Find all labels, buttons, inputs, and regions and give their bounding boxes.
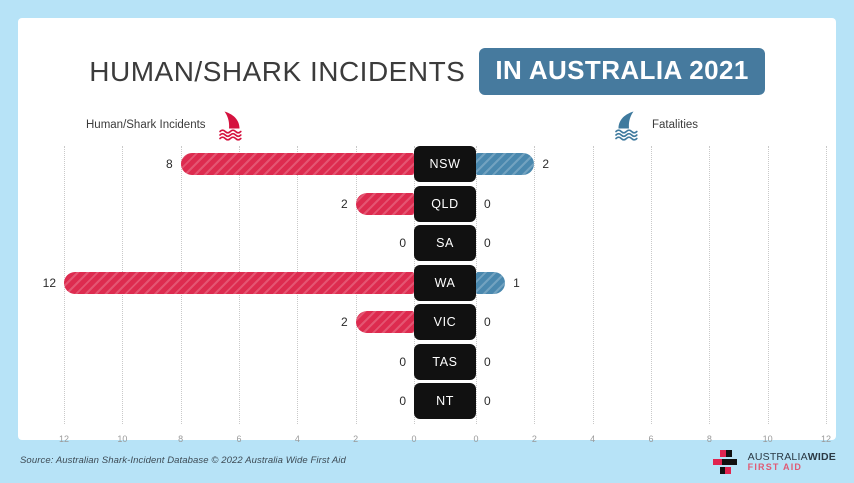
chart-row: 8NSW2 [36, 146, 854, 182]
bar-incidents [181, 153, 414, 175]
bar-value-fatalities: 0 [484, 354, 491, 370]
axis-tick-label: 10 [763, 434, 773, 444]
bar-value-incidents: 2 [341, 196, 348, 212]
state-label-wa: WA [414, 265, 476, 301]
title-main-text: HUMAN/SHARK INCIDENTS [89, 56, 465, 88]
axis-tick-label: 10 [117, 434, 127, 444]
legend-fatalities: Fatalities [610, 108, 698, 142]
bar-fatalities [476, 272, 505, 294]
axis-tick-label: 12 [59, 434, 69, 444]
logo-wordmark: AUSTRALIAWIDE FIRST AID [748, 452, 836, 472]
chart-row: 2QLD0 [36, 186, 854, 222]
page-title: HUMAN/SHARK INCIDENTS IN AUSTRALIA 2021 [18, 48, 836, 95]
state-label-qld: QLD [414, 186, 476, 222]
axis-tick-label: 8 [178, 434, 183, 444]
bar-value-fatalities: 0 [484, 196, 491, 212]
chart-row: 12WA1 [36, 265, 854, 301]
chart-row: 0SA0 [36, 225, 854, 261]
chart-x-axis: 121086420024681012 [36, 426, 854, 446]
bar-fatalities [476, 153, 534, 175]
axis-tick-label: 6 [648, 434, 653, 444]
axis-tick-label: 0 [473, 434, 478, 444]
legend-incidents-label: Human/Shark Incidents [86, 119, 206, 131]
bar-value-incidents: 12 [43, 275, 56, 291]
chart-row: 2VIC0 [36, 304, 854, 340]
axis-tick-label: 2 [532, 434, 537, 444]
infographic-poster: HUMAN/SHARK INCIDENTS IN AUSTRALIA 2021 … [0, 0, 854, 483]
axis-tick-label: 6 [236, 434, 241, 444]
chart-row: 0TAS0 [36, 344, 854, 380]
legend-fatalities-label: Fatalities [652, 119, 698, 131]
axis-tick-label: 4 [590, 434, 595, 444]
axis-tick-label: 12 [821, 434, 831, 444]
logo-name-bold: WIDE [808, 451, 836, 463]
chart-row: 0NT0 [36, 383, 854, 419]
state-label-nsw: NSW [414, 146, 476, 182]
bar-value-fatalities: 0 [484, 235, 491, 251]
axis-tick-label: 0 [411, 434, 416, 444]
bar-value-incidents: 0 [399, 235, 406, 251]
cross-icon [711, 448, 739, 476]
shark-fin-icon [214, 108, 248, 142]
bar-incidents [64, 272, 414, 294]
state-label-nt: NT [414, 383, 476, 419]
axis-tick-label: 4 [295, 434, 300, 444]
state-label-vic: VIC [414, 304, 476, 340]
source-note: Source: Australian Shark-Incident Databa… [20, 455, 346, 466]
axis-tick-label: 8 [707, 434, 712, 444]
bar-value-fatalities: 0 [484, 393, 491, 409]
chart-rows: 8NSW22QLD00SA012WA12VIC00TAS00NT0 [36, 146, 854, 424]
bar-value-incidents: 2 [341, 314, 348, 330]
state-label-sa: SA [414, 225, 476, 261]
bar-value-incidents: 0 [399, 393, 406, 409]
bar-value-fatalities: 1 [513, 275, 520, 291]
state-label-tas: TAS [414, 344, 476, 380]
bar-value-incidents: 0 [399, 354, 406, 370]
logo-name-normal: AUSTRALIA [748, 451, 808, 463]
bar-incidents [356, 311, 414, 333]
logo-line-2: FIRST AID [748, 463, 836, 472]
legend-incidents: Human/Shark Incidents [86, 108, 248, 142]
content-card: HUMAN/SHARK INCIDENTS IN AUSTRALIA 2021 … [18, 18, 836, 440]
brand-logo: AUSTRALIAWIDE FIRST AID [711, 448, 836, 476]
title-badge: IN AUSTRALIA 2021 [479, 48, 764, 95]
bar-value-incidents: 8 [166, 156, 173, 172]
shark-fin-icon [610, 108, 644, 142]
bar-value-fatalities: 2 [542, 156, 549, 172]
diverging-bar-chart: 8NSW22QLD00SA012WA12VIC00TAS00NT0 121086… [36, 146, 854, 446]
axis-tick-label: 2 [353, 434, 358, 444]
bar-value-fatalities: 0 [484, 314, 491, 330]
bar-incidents [356, 193, 414, 215]
